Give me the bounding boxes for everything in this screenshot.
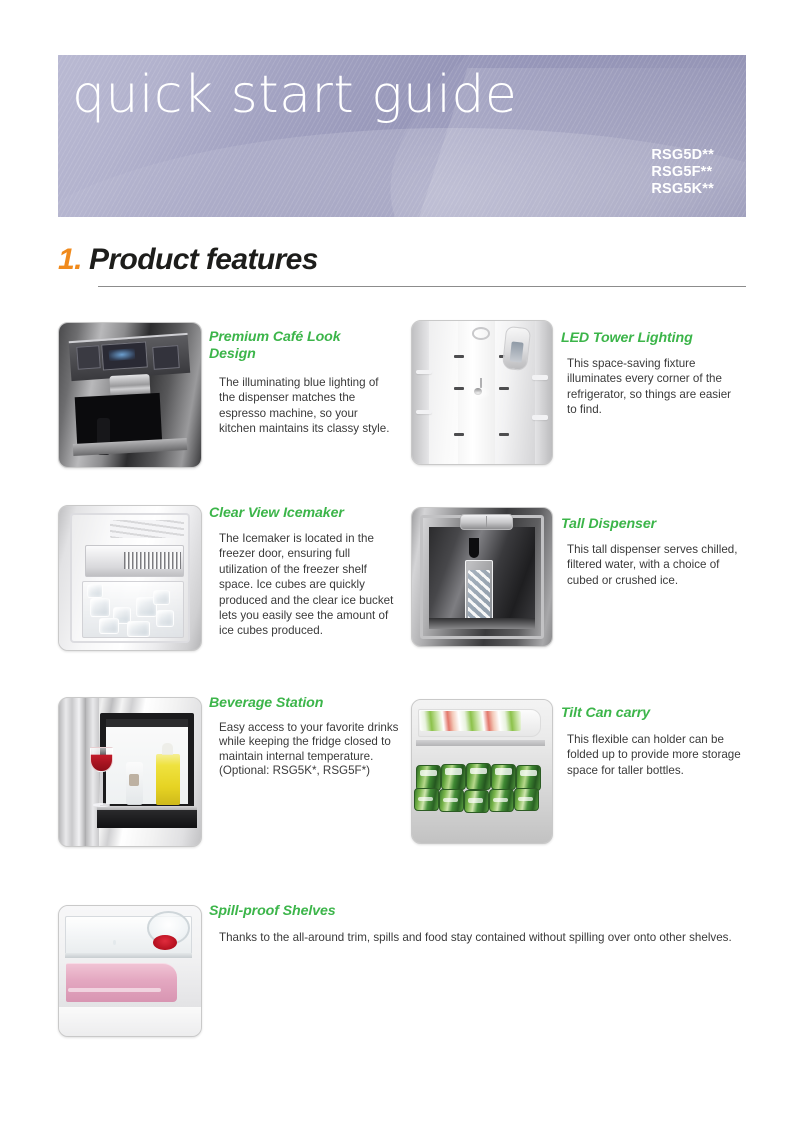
tall-dispenser-photo xyxy=(411,507,553,647)
page-title: quick start guide xyxy=(72,67,517,124)
section-title: Product features xyxy=(89,243,318,277)
feature-body: This tall dispenser serves chilled, filt… xyxy=(567,542,745,588)
model-number-2: RSG5F** xyxy=(651,164,714,181)
feature-title: Beverage Station xyxy=(209,695,409,712)
feature-body: Thanks to the all-around trim, spills an… xyxy=(219,930,749,945)
model-number-list: RSG5D** RSG5F** RSG5K** xyxy=(651,147,714,198)
feature-title: Clear View Icemaker xyxy=(209,505,409,522)
feature-title: Spill-proof Shelves xyxy=(209,903,509,920)
feature-body: This space-saving fixture illuminates ev… xyxy=(567,356,743,418)
section-divider xyxy=(98,286,746,287)
feature-body: This flexible can holder can be folded u… xyxy=(567,732,747,778)
clear-view-icemaker-photo xyxy=(58,505,202,651)
led-tower-lighting-interior-photo xyxy=(411,320,553,465)
model-number-1: RSG5D** xyxy=(651,147,714,164)
beverage-station-photo xyxy=(58,697,202,847)
section-heading: 1.Product features xyxy=(58,243,748,295)
feature-body: Easy access to your favorite drinks whil… xyxy=(219,721,399,778)
feature-title: Tilt Can carry xyxy=(561,705,761,722)
feature-title: Premium Café Look Design xyxy=(209,329,379,363)
tilt-can-carry-photo xyxy=(411,699,553,844)
feature-title: Tall Dispenser xyxy=(561,516,761,533)
page-header-banner: quick start guide RSG5D** RSG5F** RSG5K*… xyxy=(58,55,746,217)
model-number-3: RSG5K** xyxy=(651,181,714,198)
quick-start-guide-page: quick start guide RSG5D** RSG5F** RSG5K*… xyxy=(0,0,802,1134)
feature-body: The Icemaker is located in the freezer d… xyxy=(219,531,401,639)
feature-body: The illuminating blue lighting of the di… xyxy=(219,375,395,437)
spill-proof-shelves-photo xyxy=(58,905,202,1037)
feature-title: LED Tower Lighting xyxy=(561,330,761,347)
section-number: 1. xyxy=(58,243,82,277)
premium-cafe-look-dispenser-photo xyxy=(58,322,202,468)
